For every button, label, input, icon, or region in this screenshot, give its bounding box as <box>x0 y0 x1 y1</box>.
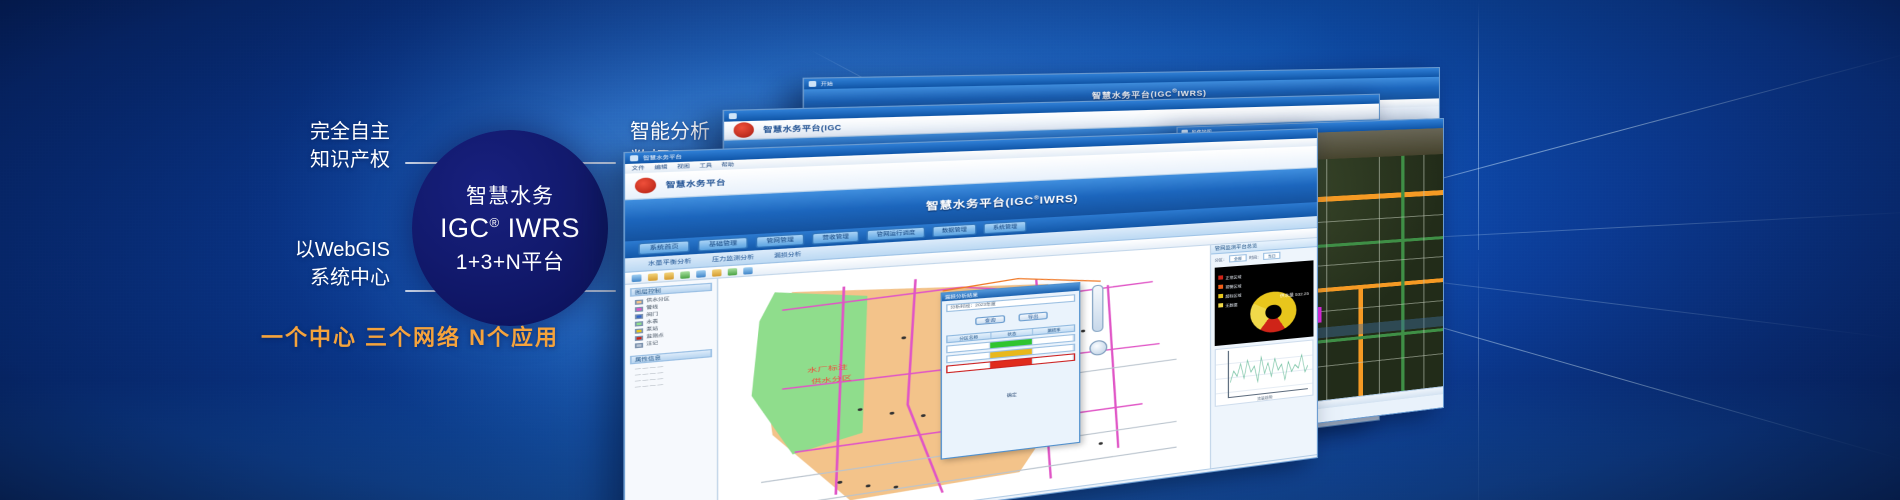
menu-help[interactable]: 帮助 <box>721 161 734 169</box>
back-app-title-suffix: IWRS) <box>1178 90 1207 98</box>
layer-label: 注记 <box>646 340 658 347</box>
zoom-in-icon[interactable] <box>648 273 658 281</box>
dashboard-pane: 管网监测平台总览 分区： 全部 时间： 当日 正常区域 预警区域 超标区域 <box>1210 238 1317 468</box>
map-zoom-slider[interactable] <box>1092 285 1104 333</box>
menu-tools[interactable]: 工具 <box>699 162 712 170</box>
nav-dispatch[interactable]: 管网运行调度 <box>866 227 925 242</box>
pie-value-label: 供水量 532.25 <box>1280 291 1309 299</box>
dialog-col-status: 状态 <box>991 329 1034 338</box>
circle-product-prefix: IGC <box>440 213 490 243</box>
front-brand-text: 智慧水务平台 <box>666 177 726 190</box>
layer-swatch <box>635 306 643 311</box>
center-circle-badge: 智慧水务 IGC® IWRS 1+3+N平台 <box>412 130 608 326</box>
nav-basic[interactable]: 基础管理 <box>698 237 748 252</box>
dialog-col-rate: 漏损率 <box>1034 325 1074 334</box>
window-icon <box>630 155 638 161</box>
filter-time-select[interactable]: 当日 <box>1263 252 1280 260</box>
layer-swatch <box>635 299 643 304</box>
dialog-export-button[interactable]: 导出 <box>1019 312 1048 322</box>
label-bottom-left: 以WebGIS 系统中心 <box>150 236 390 293</box>
leak-analysis-dialog[interactable]: 漏损分析结果 分析时段：2023年度 查询 导出 分区名称 状态 漏损 <box>941 282 1081 460</box>
window-icon <box>809 81 817 87</box>
layer-label: 泵站 <box>646 326 658 333</box>
svg-text:水厂标注: 水厂标注 <box>807 362 848 374</box>
nav-revenue[interactable]: 营收管理 <box>812 230 859 244</box>
select-tool-icon[interactable] <box>680 271 690 279</box>
front-body: 图层控制 供水分区 管线 阀门 水表 泵站 监测点 注记 属性信息 — — — … <box>625 238 1317 500</box>
label-bottom-left-line2: 系统中心 <box>150 264 390 292</box>
filter-area-select[interactable]: 全部 <box>1229 254 1246 262</box>
label-bottom-left-line1: 以WebGIS <box>150 236 390 264</box>
flow-trend-chart: 流量趋势 <box>1215 339 1314 406</box>
banner-stage: 智慧水务 IGC® IWRS 1+3+N平台 完全自主 知识产权 智能分析 数据… <box>0 0 1900 500</box>
pie-legend-2: 超标区域 <box>1225 293 1241 298</box>
company-logo-icon <box>734 122 754 138</box>
subnav-water-balance[interactable]: 水量平衡分析 <box>641 257 697 268</box>
layer-toggle-icon[interactable] <box>743 266 752 274</box>
circle-product-name: IGC® IWRS <box>440 214 580 242</box>
middle-brand-text: 智慧水务平台(IGC <box>763 122 841 135</box>
menu-file[interactable]: 文件 <box>632 165 645 173</box>
label-top-left-line1: 完全自主 <box>160 118 390 146</box>
front-window-title: 智慧水务平台 <box>643 153 682 162</box>
identify-tool-icon[interactable] <box>712 268 721 276</box>
nav-pipeline[interactable]: 管网管理 <box>756 234 805 249</box>
dialog-confirm-button[interactable]: 确定 <box>946 387 1075 406</box>
circle-product-suffix: IWRS <box>508 213 581 243</box>
layer-label: 水表 <box>646 319 658 326</box>
app-window-stack: 开始 智慧水务平台(IGC®IWRS) 开始 插入 数据分析 <box>760 0 1900 500</box>
pie-legend-3: 无数据 <box>1225 303 1237 308</box>
label-top-left-line2: 知识产权 <box>160 146 390 174</box>
menu-edit[interactable]: 编辑 <box>654 164 667 172</box>
layer-swatch <box>635 328 643 333</box>
filter-time-label: 时间： <box>1249 254 1261 260</box>
print-map-icon[interactable] <box>728 267 737 275</box>
subnav-leakage[interactable]: 漏损分析 <box>768 250 807 259</box>
layer-swatch <box>635 342 643 348</box>
zoom-out-icon[interactable] <box>664 272 674 280</box>
layer-control-pane[interactable]: 图层控制 供水分区 管线 阀门 水表 泵站 监测点 注记 属性信息 — — — … <box>625 279 718 500</box>
filter-area-label: 分区： <box>1215 257 1227 263</box>
measure-tool-icon[interactable] <box>696 269 706 277</box>
layer-label: 阀门 <box>646 312 658 319</box>
app-window-front[interactable]: 智慧水务平台 文件 编辑 视图 工具 帮助 智慧水务平台 智慧水务平台(IGC®… <box>623 128 1318 500</box>
supply-pie-chart: 正常区域 预警区域 超标区域 无数据 供水量 532.25 <box>1215 260 1314 346</box>
svg-text:供水分区: 供水分区 <box>811 374 852 386</box>
dialog-query-button[interactable]: 查询 <box>975 315 1005 325</box>
subnav-pressure[interactable]: 压力监测分析 <box>706 253 761 263</box>
pan-tool-icon[interactable] <box>632 274 642 282</box>
menu-view[interactable]: 视图 <box>677 163 690 171</box>
nav-data[interactable]: 数据管理 <box>932 224 976 238</box>
nav-system[interactable]: 系统管理 <box>983 221 1026 234</box>
flow-trend-polyline <box>1230 343 1308 396</box>
layer-swatch <box>635 313 643 318</box>
front-app-title: 智慧水务平台(IGC®IWRS) <box>926 190 1078 212</box>
dialog-col-area: 分区名称 <box>948 333 992 342</box>
layer-label: 管线 <box>646 304 658 311</box>
layer-label: 监测点 <box>646 333 663 340</box>
front-app-title-suffix: IWRS) <box>1040 193 1079 206</box>
nav-home[interactable]: 系统首页 <box>638 240 690 255</box>
circle-platform-label: 1+3+N平台 <box>456 246 565 276</box>
circle-title: 智慧水务 <box>466 180 554 210</box>
gis-map-canvas[interactable]: 水厂标注 供水分区 漏损分析结果 分析时段：2023年度 查询 <box>718 245 1210 500</box>
label-top-left: 完全自主 知识产权 <box>160 118 390 175</box>
registered-mark-icon: ® <box>489 215 499 230</box>
window-icon <box>729 113 737 119</box>
layer-swatch <box>635 321 643 326</box>
company-logo-icon <box>635 177 656 194</box>
layer-swatch <box>635 335 643 340</box>
front-app-title-prefix: 智慧水务平台(IGC <box>926 195 1034 212</box>
back-window-title: 开始 <box>821 80 833 87</box>
